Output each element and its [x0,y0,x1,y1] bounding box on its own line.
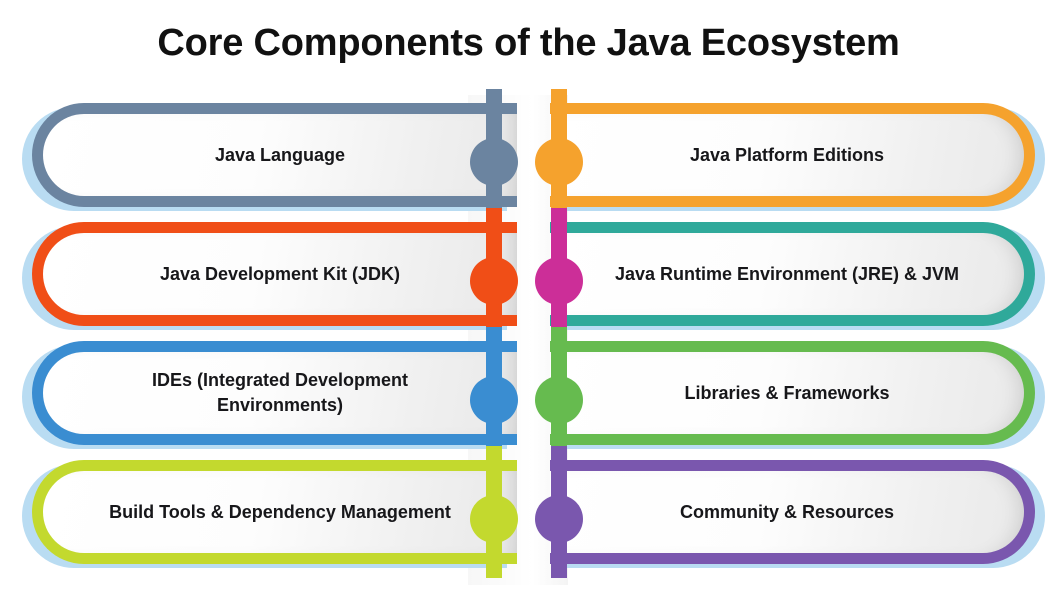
card-label: Community & Resources [654,500,920,525]
connector-left [468,222,520,340]
component-card-left[interactable]: Java Development Kit (JDK) [22,222,507,334]
connector-node-circle[interactable] [535,138,583,186]
card-label: Build Tools & Dependency Management [83,500,477,525]
component-card-right[interactable]: Libraries & Frameworks [550,341,1035,453]
diagram-row: IDEs (Integrated Development Environment… [0,341,1057,459]
connector-node-circle[interactable] [470,495,518,543]
card-label: Java Development Kit (JDK) [134,262,426,287]
connector-left [468,341,520,459]
card-body[interactable]: IDEs (Integrated Development Environment… [32,341,517,445]
connector-right [533,103,585,221]
page-title: Core Components of the Java Ecosystem [0,22,1057,65]
component-card-left[interactable]: IDEs (Integrated Development Environment… [22,341,507,453]
connector-right [533,460,585,578]
connector-right [533,341,585,459]
component-card-right[interactable]: Java Runtime Environment (JRE) & JVM [550,222,1035,334]
connector-node-circle[interactable] [470,138,518,186]
card-label: IDEs (Integrated Development Environment… [70,368,490,418]
card-body[interactable]: Java Language [32,103,517,207]
connector-right [533,222,585,340]
card-label: Java Language [189,143,371,168]
card-label: Libraries & Frameworks [658,381,915,406]
infographic-canvas: Core Components of the Java Ecosystem Ja… [0,0,1057,606]
connector-node-circle[interactable] [535,495,583,543]
connector-node-circle[interactable] [535,376,583,424]
component-card-right[interactable]: Java Platform Editions [550,103,1035,215]
card-body[interactable]: Java Development Kit (JDK) [32,222,517,326]
connector-left [468,460,520,578]
connector-node-circle[interactable] [470,257,518,305]
diagram-row: Build Tools & Dependency ManagementCommu… [0,460,1057,578]
card-label: Java Platform Editions [664,143,910,168]
connector-node-circle[interactable] [470,376,518,424]
card-body[interactable]: Build Tools & Dependency Management [32,460,517,564]
diagram-row: Java Development Kit (JDK)Java Runtime E… [0,222,1057,340]
connector-node-circle[interactable] [535,257,583,305]
component-card-right[interactable]: Community & Resources [550,460,1035,572]
card-body[interactable]: Java Runtime Environment (JRE) & JVM [550,222,1035,326]
connector-left [468,103,520,221]
card-label: Java Runtime Environment (JRE) & JVM [589,262,985,287]
card-body[interactable]: Community & Resources [550,460,1035,564]
component-card-left[interactable]: Java Language [22,103,507,215]
diagram-row: Java LanguageJava Platform Editions [0,103,1057,221]
card-body[interactable]: Libraries & Frameworks [550,341,1035,445]
card-body[interactable]: Java Platform Editions [550,103,1035,207]
component-card-left[interactable]: Build Tools & Dependency Management [22,460,507,572]
